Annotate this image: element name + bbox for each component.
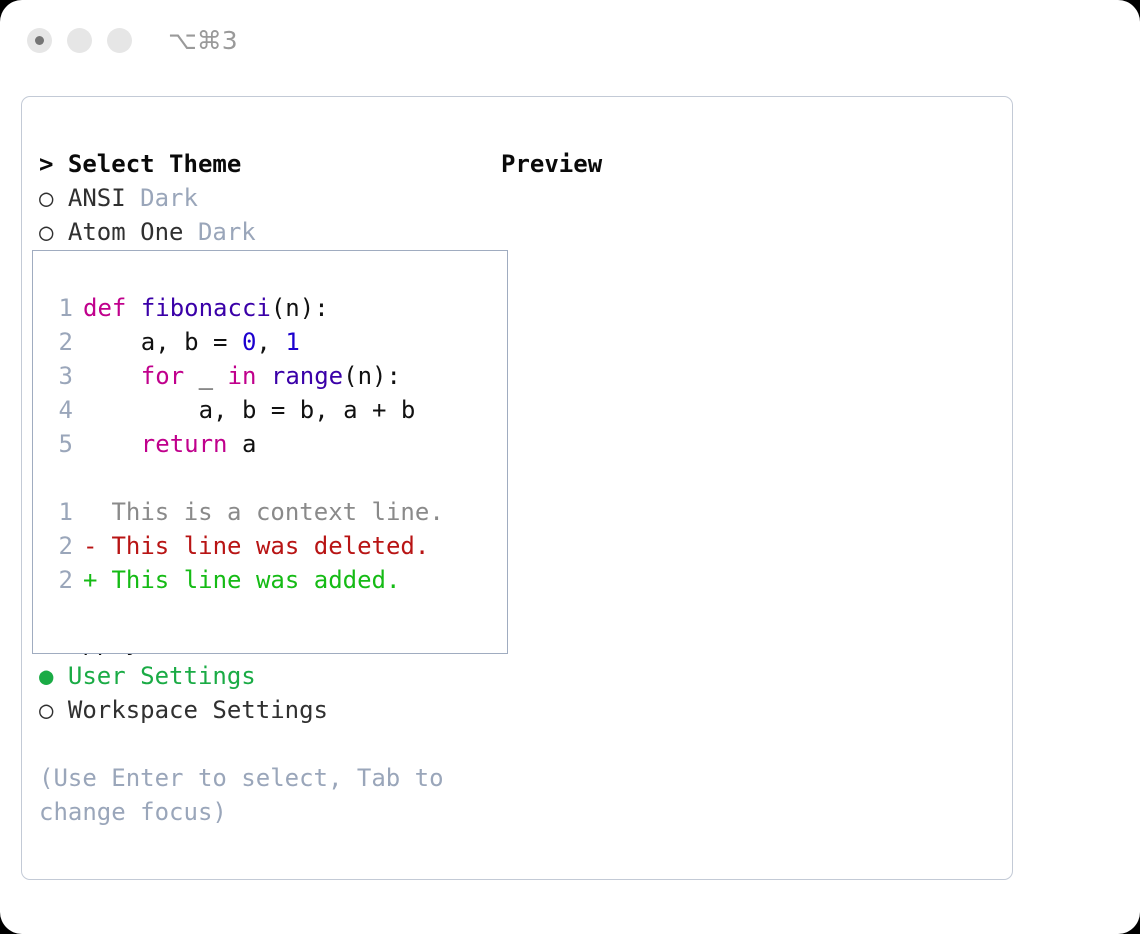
code-token: def: [83, 294, 126, 322]
code-token: return: [141, 430, 228, 458]
code-token: a: [228, 430, 257, 458]
keyboard-hint-text: (Use Enter to select, Tab to change focu…: [39, 761, 459, 829]
line-number: 3: [47, 359, 73, 393]
window-button-maximize[interactable]: [107, 28, 132, 53]
code-line: 3 for _ in range(n):: [47, 359, 501, 393]
radio-unselected-icon: ○: [39, 696, 53, 724]
radio-selected-icon: ●: [39, 662, 53, 690]
code-token: [83, 430, 141, 458]
code-token: [256, 362, 270, 390]
diff-line: 1 This is a context line.: [47, 495, 501, 529]
diff-line: 2+ This line was added.: [47, 563, 501, 597]
diff-sign: +: [83, 563, 97, 597]
apply-to-label: User Settings: [53, 662, 255, 690]
theme-list-item[interactable]: ○ ANSI Dark: [39, 181, 499, 215]
code-token: (n):: [343, 362, 401, 390]
code-token: a, b = b, a + b: [83, 396, 415, 424]
code-token: _: [184, 362, 227, 390]
code-token: range: [271, 362, 343, 390]
line-number: 4: [47, 393, 73, 427]
line-number: 5: [47, 427, 73, 461]
code-token: 0: [242, 328, 256, 356]
theme-name: ANSI: [53, 184, 125, 212]
window-button-minimize[interactable]: [67, 28, 92, 53]
diff-sign: -: [83, 529, 97, 563]
code-token: [126, 294, 140, 322]
theme-list-item[interactable]: ○ Atom One Dark: [39, 215, 499, 249]
active-dot-icon: [35, 36, 44, 45]
theme-name: Atom One: [53, 218, 183, 246]
apply-to-list: ● User Settings○ Workspace Settings: [39, 659, 499, 727]
diff-text: This is a context line.: [97, 498, 444, 526]
code-line: 2 a, b = 0, 1: [47, 325, 501, 359]
code-token: fibonacci: [141, 294, 271, 322]
code-token: in: [228, 362, 257, 390]
diff-line: 2- This line was deleted.: [47, 529, 501, 563]
diff-lines: 1 This is a context line.2- This line wa…: [47, 495, 501, 597]
code-line: 4 a, b = b, a + b: [47, 393, 501, 427]
window-button-close[interactable]: [27, 28, 52, 53]
radio-unselected-icon: ○: [39, 184, 53, 212]
apply-to-item[interactable]: ○ Workspace Settings: [39, 693, 499, 727]
code-token: 1: [285, 328, 299, 356]
diff-sign: [83, 495, 97, 529]
line-number: 2: [47, 563, 73, 597]
theme-picker-panel: > Select Theme ○ ANSI Dark○ Atom One Dar…: [21, 96, 1013, 880]
line-number: 1: [47, 291, 73, 325]
preview-heading: Preview: [501, 147, 991, 181]
code-line: 1def fibonacci(n):: [47, 291, 501, 325]
diff-text: This line was added.: [97, 566, 400, 594]
apply-to-label: Workspace Settings: [53, 696, 328, 724]
theme-list-heading: > Select Theme: [39, 147, 499, 181]
window-titlebar: ⌥⌘3: [0, 0, 1140, 80]
code-token: for: [141, 362, 184, 390]
theme-kind-badge: Dark: [184, 218, 256, 246]
diff-text: This line was deleted.: [97, 532, 429, 560]
line-number: 2: [47, 529, 73, 563]
code-token: ,: [256, 328, 285, 356]
code-token: a, b =: [83, 328, 242, 356]
line-number: 1: [47, 495, 73, 529]
code-line: 5 return a: [47, 427, 501, 461]
line-number: 2: [47, 325, 73, 359]
keyboard-shortcut-label: ⌥⌘3: [168, 26, 238, 55]
preview-column: Preview: [501, 147, 991, 181]
theme-kind-badge: Dark: [126, 184, 198, 212]
app-window: ⌥⌘3 > Select Theme ○ ANSI Dark○ Atom One…: [0, 0, 1140, 934]
radio-unselected-icon: ○: [39, 218, 53, 246]
code-lines: 1def fibonacci(n):2 a, b = 0, 13 for _ i…: [47, 291, 501, 461]
code-token: (n):: [271, 294, 329, 322]
code-token: [83, 362, 141, 390]
apply-to-item[interactable]: ● User Settings: [39, 659, 499, 693]
preview-box: 1def fibonacci(n):2 a, b = 0, 13 for _ i…: [32, 250, 508, 654]
code-sample: 1def fibonacci(n):2 a, b = 0, 13 for _ i…: [47, 291, 501, 597]
